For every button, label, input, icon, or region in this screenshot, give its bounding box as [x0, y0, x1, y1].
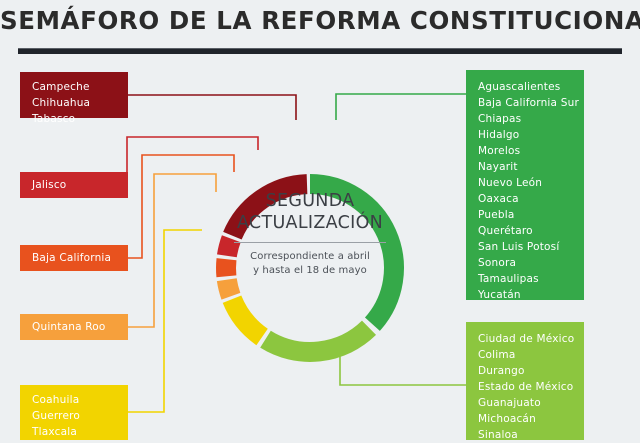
connector-dark-red: [128, 95, 296, 120]
legend-state: Jalisco: [32, 177, 128, 193]
connector-light-green: [340, 352, 466, 385]
center-title-line2: ACTUALIZACIÓN: [222, 212, 398, 234]
legend-state: Coahuila: [32, 392, 128, 408]
legend-state: Sinaloa: [478, 427, 584, 443]
connector-orange-red: [128, 155, 234, 258]
legend-state: Puebla: [478, 207, 584, 223]
center-title-line1: SEGUNDA: [222, 190, 398, 212]
legend-state: Hidalgo: [478, 127, 584, 143]
legend-state: Tamaulipas: [478, 271, 584, 287]
legend-state: Quintana Roo: [32, 319, 128, 335]
legend-state: Chihuahua: [32, 95, 128, 111]
donut-segment-yellow: [232, 299, 262, 337]
legend-state: Baja California: [32, 250, 128, 266]
legend-box-green[interactable]: Aguascalientes Baja California Sur Chiap…: [466, 70, 584, 300]
legend-state: Guanajuato: [478, 395, 584, 411]
donut-center-text: SEGUNDA ACTUALIZACIÓN Correspondiente a …: [222, 190, 398, 278]
legend-state: Baja California Sur: [478, 95, 584, 111]
legend-state: Campeche: [32, 79, 128, 95]
legend-state: Tabasco: [32, 111, 128, 127]
donut-segment-light-green: [266, 328, 370, 352]
legend-state: Tlaxcala: [32, 424, 128, 440]
legend-state: San Luis Potosí: [478, 239, 584, 255]
legend-box-yellow[interactable]: Coahuila Guerrero Tlaxcala: [20, 385, 128, 440]
legend-state: Yucatán: [478, 287, 584, 303]
legend-state: Michoacán: [478, 411, 584, 427]
connector-red-route: [127, 137, 258, 185]
infographic-root: SEMÁFORO DE LA REFORMA CONSTITUCIONAL: [0, 0, 640, 440]
center-divider: [234, 242, 386, 243]
legend-state: Aguascalientes: [478, 79, 584, 95]
legend-state: Nayarit: [478, 159, 584, 175]
legend-box-orange[interactable]: Quintana Roo: [20, 314, 128, 340]
legend-state: Colima: [478, 347, 584, 363]
legend-box-light-green[interactable]: Ciudad de México Colima Durango Estado d…: [466, 322, 584, 440]
legend-box-orange-red[interactable]: Baja California: [20, 245, 128, 271]
legend-state: Estado de México: [478, 379, 584, 395]
legend-state: Nuevo León: [478, 175, 584, 191]
legend-state: Guerrero: [32, 408, 128, 424]
legend-box-red[interactable]: Jalisco: [20, 172, 128, 198]
legend-state: Querétaro: [478, 223, 584, 239]
center-sub-line2: y hasta el 18 de mayo: [222, 264, 398, 278]
legend-state: Durango: [478, 363, 584, 379]
donut-segment-orange: [227, 280, 231, 297]
legend-state: Ciudad de México: [478, 331, 584, 347]
legend-state: Sonora: [478, 255, 584, 271]
legend-box-dark-red[interactable]: Campeche Chihuahua Tabasco: [20, 72, 128, 118]
center-sub-line1: Correspondiente a abril: [222, 250, 398, 264]
legend-state: Oaxaca: [478, 191, 584, 207]
legend-state: Morelos: [478, 143, 584, 159]
connector-green: [336, 94, 466, 120]
legend-state: Chiapas: [478, 111, 584, 127]
